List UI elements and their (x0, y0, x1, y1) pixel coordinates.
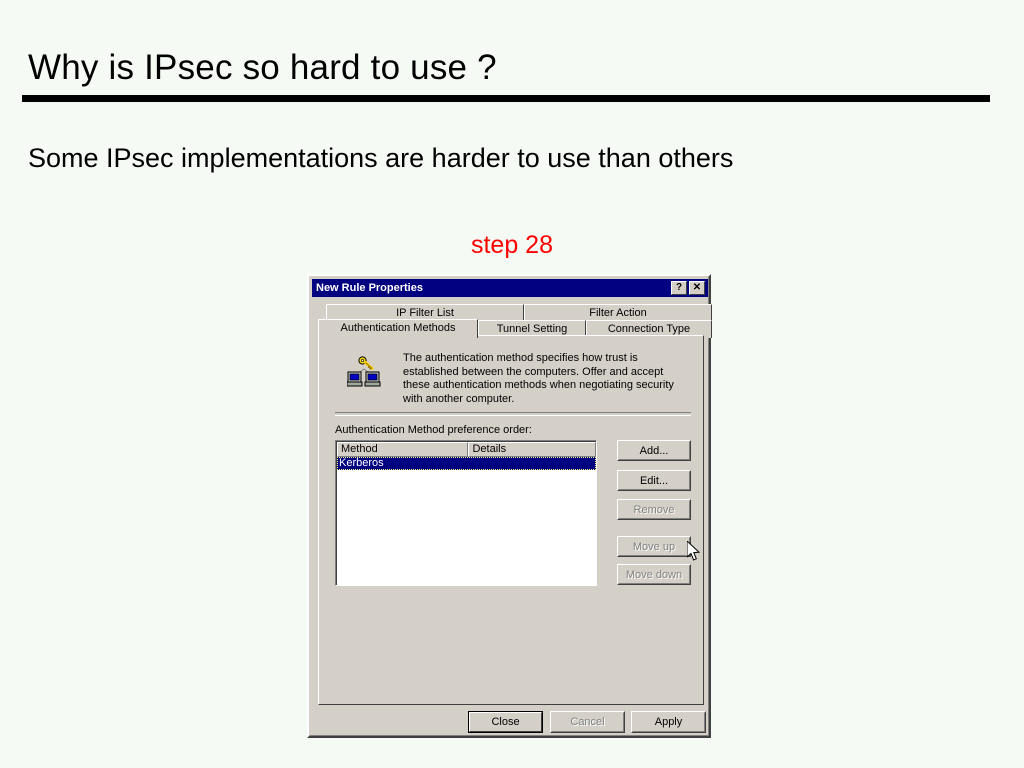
preference-order-label: Authentication Method preference order: (335, 424, 532, 436)
list-item[interactable]: Kerberos (337, 457, 596, 470)
remove-button-label: Remove (618, 500, 690, 519)
slide-bullet-text: Some IPsec implementations are harder to… (28, 143, 733, 174)
tab-authentication-methods[interactable]: Authentication Methods (318, 319, 478, 338)
close-icon[interactable]: ✕ (689, 281, 705, 295)
authentication-methods-listview[interactable]: Method Details Kerberos (335, 440, 597, 586)
listview-rows: Kerberos (337, 457, 596, 470)
edit-button-label: Edit... (618, 471, 690, 490)
help-icon[interactable]: ? (671, 281, 687, 295)
cancel-button-label: Cancel (551, 712, 624, 732)
tab-filter-action[interactable]: Filter Action (524, 304, 712, 321)
move-down-button-label: Move down (618, 565, 690, 584)
edit-button[interactable]: Edit... (617, 470, 691, 491)
new-rule-properties-dialog: New Rule Properties ? ✕ IP Filter List F… (307, 274, 711, 738)
tab-strip: IP Filter List Filter Action Authenticat… (318, 304, 704, 336)
authentication-description: The authentication method specifies how … (403, 352, 693, 406)
add-button-label: Add... (618, 441, 690, 460)
dialog-title-text: New Rule Properties (316, 282, 671, 294)
apply-button-label: Apply (632, 712, 705, 732)
move-down-button: Move down (617, 564, 691, 585)
two-computers-key-icon (347, 354, 381, 388)
dialog-titlebar[interactable]: New Rule Properties ? ✕ (312, 279, 708, 297)
listview-header: Method Details (337, 442, 596, 457)
remove-button: Remove (617, 499, 691, 520)
close-button-label: Close (469, 712, 542, 732)
column-header-method[interactable]: Method (337, 442, 468, 457)
move-up-button: Move up (617, 536, 691, 557)
dialog-inner-frame: New Rule Properties ? ✕ IP Filter List F… (309, 276, 709, 736)
tab-page-authentication-methods: The authentication method specifies how … (318, 335, 704, 705)
step-label: step 28 (0, 231, 1024, 260)
listview-inner: Method Details Kerberos (336, 441, 596, 585)
column-header-details[interactable]: Details (468, 442, 596, 457)
add-button[interactable]: Add... (617, 440, 691, 461)
close-button[interactable]: Close (468, 711, 543, 733)
move-up-button-label: Move up (618, 537, 690, 556)
title-underline-rule (22, 95, 990, 102)
page-title: Why is IPsec so hard to use ? (28, 48, 497, 88)
apply-button[interactable]: Apply (631, 711, 706, 733)
section-divider (335, 412, 691, 416)
cancel-button: Cancel (550, 711, 625, 733)
